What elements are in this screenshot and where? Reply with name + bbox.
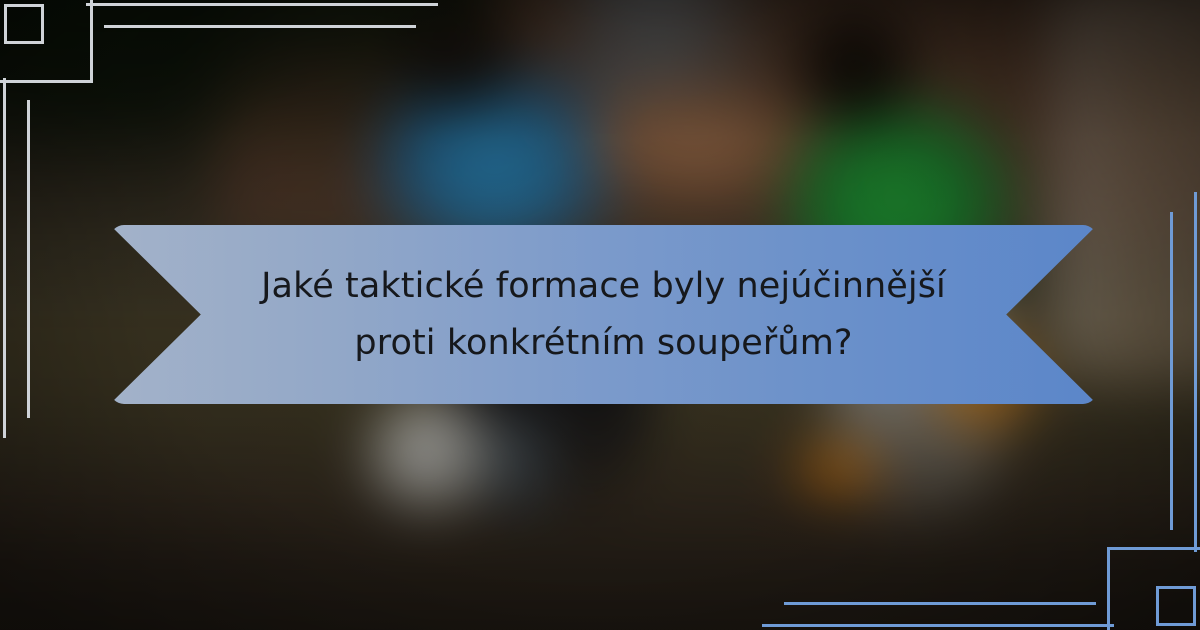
corner-bracket-bottom-right-icon bbox=[1040, 480, 1200, 630]
banner-title: Jaké taktické formace byly nejúčinnější … bbox=[218, 258, 989, 372]
corner-line-horizontal-inner bbox=[104, 25, 416, 28]
corner-bracket-top-left-icon bbox=[0, 0, 160, 150]
corner-line-vertical-inner bbox=[1170, 212, 1173, 530]
corner-elbow-icon bbox=[1107, 547, 1200, 630]
social-card: Jaké taktické formace byly nejúčinnější … bbox=[0, 0, 1200, 630]
ribbon-banner: Jaké taktické formace byly nejúčinnější … bbox=[110, 225, 1097, 404]
corner-elbow-icon bbox=[0, 0, 93, 83]
corner-line-vertical-outer bbox=[3, 78, 6, 438]
corner-line-vertical-outer bbox=[1194, 192, 1197, 552]
corner-line-horizontal-outer bbox=[86, 3, 438, 6]
corner-line-horizontal-inner bbox=[784, 602, 1096, 605]
corner-line-horizontal-outer bbox=[762, 624, 1114, 627]
corner-line-vertical-inner bbox=[27, 100, 30, 418]
